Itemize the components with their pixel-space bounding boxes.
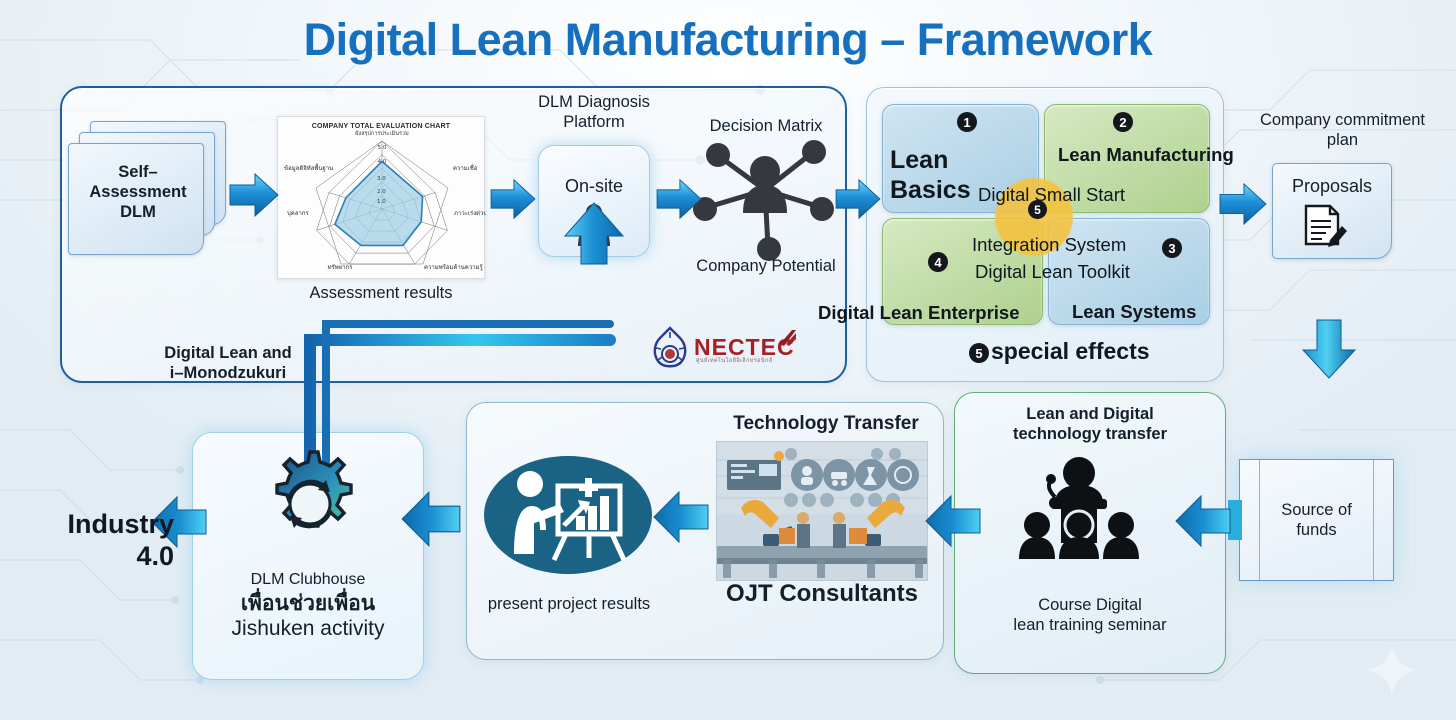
svg-text:ข้อมูลดิจิทัลพื้นฐาน: ข้อมูลดิจิทัลพื้นฐาน: [284, 162, 333, 172]
dlm-platform-label: DLM Diagnosis Platform: [509, 92, 679, 132]
quadrant-badge-1: 1: [957, 112, 977, 132]
framework-diagram: Digital Lean Manufacturing – Framework S…: [0, 0, 1456, 720]
quadrant-badge-3: 3: [1162, 238, 1182, 258]
svg-text:4.0: 4.0: [378, 159, 387, 165]
source-of-funds-label: Source of funds: [1239, 500, 1394, 540]
radar-chart-svg: ผังสรุปการประเมินรวม 5.0 4.0 3.0 2.0 1.0…: [278, 117, 486, 280]
present-project-results-caption: present project results: [474, 594, 664, 614]
quadrant-label-lean-systems: Lean Systems: [1072, 301, 1196, 323]
radar-chart-icon: COMPANY TOTAL EVALUATION CHART: [277, 116, 485, 279]
svg-text:1.0: 1.0: [377, 199, 386, 205]
decision-matrix-label: Decision Matrix: [688, 116, 844, 136]
industry-40-label: Industry 4.0: [14, 508, 174, 572]
quadrant-label-digital-lean-enterprise: Digital Lean Enterprise: [818, 302, 1020, 324]
overlay-digital-lean-toolkit: Digital Lean Toolkit: [975, 261, 1130, 283]
quadrant-badge-2: 2: [1113, 112, 1133, 132]
svg-text:5.0: 5.0: [378, 145, 387, 151]
quadrant-label-lean-manufacturing: Lean Manufacturing: [1058, 144, 1234, 166]
dlm-clubhouse-label: DLM Clubhouse เพื่อนช่วยเพื่อน Jishuken …: [192, 570, 424, 642]
nectec-subtitle: ศูนย์เทคโนโลยีอิเล็กทรอนิกส์: [696, 357, 773, 365]
overlay-digital-small-start: Digital Small Start: [978, 184, 1125, 206]
svg-text:ผังสรุปการประเมินรวม: ผังสรุปการประเมินรวม: [355, 130, 409, 137]
course-seminar-caption: Course Digital lean training seminar: [964, 595, 1216, 635]
company-potential-label: Company Potential: [680, 256, 852, 276]
svg-text:3.0: 3.0: [377, 176, 386, 182]
center-badge-5: 5: [1028, 200, 1047, 219]
lecturer-audience-icon: [1015, 455, 1143, 565]
sparkle-icon: [1362, 640, 1422, 700]
document-pencil-icon: [1300, 204, 1348, 248]
proposals-label: Proposals: [1272, 176, 1392, 196]
company-commitment-plan-label: Company commitment plan: [1240, 110, 1445, 150]
smart-factory-icon: [716, 441, 928, 581]
arrow-left-icon: [652, 490, 710, 544]
svg-text:ภาวะเร่งด่วน: ภาวะเร่งด่วน: [454, 210, 486, 217]
svg-text:บุคลากร: บุคลากร: [287, 210, 310, 217]
arrow-up-icon: [561, 200, 627, 266]
svg-text:ทรัพยากร: ทรัพยากร: [328, 264, 354, 271]
arrow-right-icon: [1218, 182, 1268, 226]
arrow-right-icon: [489, 178, 537, 220]
arrow-right-icon: [655, 178, 703, 220]
radar-chart-title: COMPANY TOTAL EVALUATION CHART: [278, 123, 484, 130]
nectec-swoosh-icon: [778, 328, 798, 348]
arrow-down-icon: [1300, 318, 1358, 380]
self-assessment-label: Self– Assessment DLM: [68, 162, 208, 222]
footer-badge-5: 5: [969, 343, 989, 363]
onsite-label: On-site: [538, 176, 650, 196]
gear-cycle-icon: [256, 450, 364, 558]
svg-text:ความพร้อมด้านความรู้: ความพร้อมด้านความรู้: [424, 264, 484, 271]
arrow-right-icon: [834, 178, 882, 220]
svg-text:2.0: 2.0: [377, 189, 386, 195]
special-effects-label: special effects: [991, 338, 1150, 365]
arrow-left-icon: [1174, 494, 1232, 548]
network-node-icon: [690, 135, 840, 265]
arrow-right-icon: [228, 172, 280, 218]
svg-text:ความเชื่อ: ความเชื่อ: [453, 164, 478, 172]
arrow-left-icon: [924, 494, 982, 548]
arrow-left-icon: [400, 490, 462, 548]
quadrant-badge-4: 4: [928, 252, 948, 272]
lean-digital-transfer-title: Lean and Digital technology transfer: [964, 404, 1216, 444]
ojt-consultants-label: OJT Consultants: [714, 584, 930, 604]
quadrant-label-lean-basics: Lean Basics: [890, 145, 971, 205]
page-title: Digital Lean Manufacturing – Framework: [0, 14, 1456, 66]
overlay-integration-system: Integration System: [972, 234, 1126, 256]
technology-transfer-label: Technology Transfer: [726, 414, 926, 434]
